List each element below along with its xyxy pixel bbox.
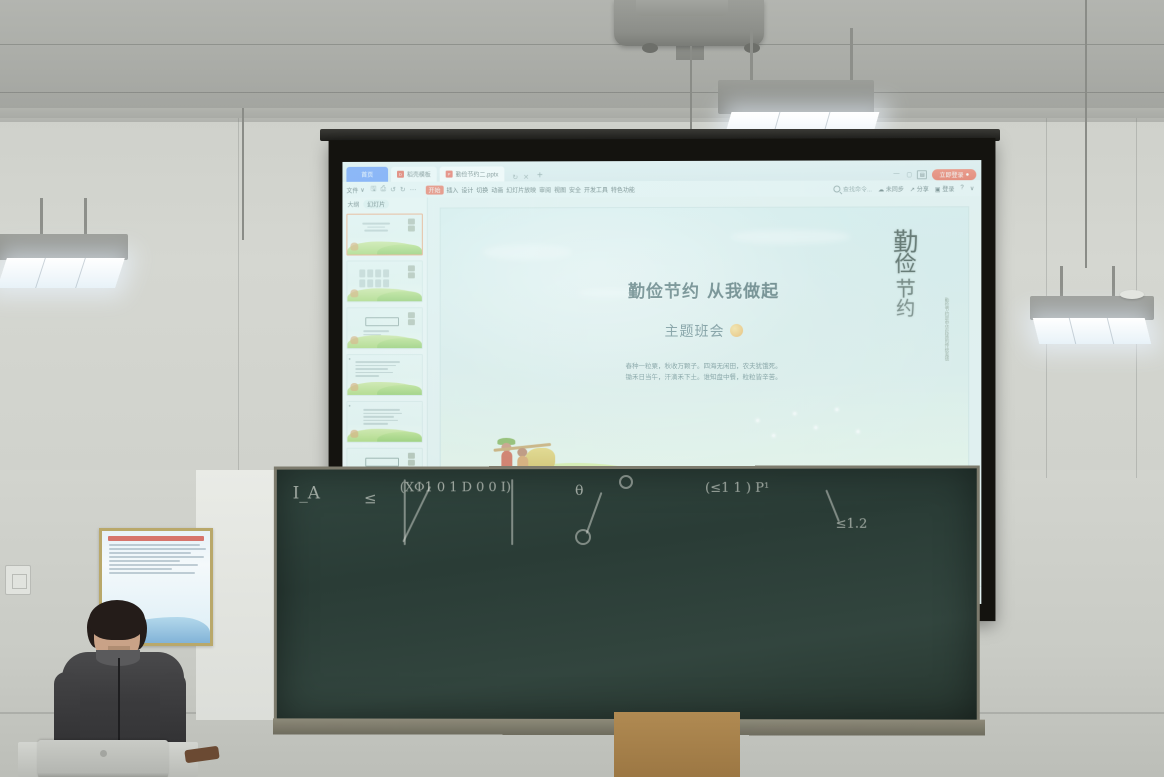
ribbon-tab-start[interactable]: 开始 <box>426 185 444 194</box>
chalk-circle <box>575 529 591 545</box>
thumb-farmer-icon <box>350 243 358 251</box>
laptop <box>38 740 168 777</box>
template-icon: D <box>397 171 404 178</box>
ceiling-seam <box>0 92 1164 93</box>
hanging-wire <box>242 108 244 240</box>
light-panel <box>1033 318 1151 344</box>
ceiling-seam <box>0 44 1164 45</box>
chalk-circle <box>619 475 633 489</box>
ribbon-tab-view[interactable]: 视图 <box>554 185 566 194</box>
search-box[interactable]: 查找命令... <box>834 184 872 193</box>
chevron-down-icon: ∨ <box>360 186 364 193</box>
chalk-stroke <box>825 490 840 522</box>
title-bar: 首页 D 稻壳模板 P 勤俭节约二.pptx ↻ ✕ + <box>342 160 981 182</box>
chalk-note: ≤ <box>364 489 376 507</box>
rice-bowl-icon <box>730 324 743 337</box>
user-icon: ● <box>966 172 970 178</box>
cloud-wisp <box>730 229 850 243</box>
smoke-detector <box>1120 290 1144 299</box>
front-desk <box>614 712 740 777</box>
hanging-wire <box>1085 0 1087 268</box>
more-icon[interactable]: ⋯ <box>410 186 417 194</box>
wall-band <box>0 108 1164 122</box>
thumb-calligraphy-icon <box>407 312 416 325</box>
chalk-stroke <box>404 479 406 545</box>
projector-lens-icon <box>642 43 658 53</box>
share-button[interactable]: ↗ 分享 <box>910 184 929 193</box>
wall-outlet <box>5 565 31 595</box>
tab-outline[interactable]: 大纲 <box>347 200 359 209</box>
light-rod <box>40 198 43 234</box>
calligraphy-char-1: 勤 <box>893 229 918 254</box>
thumb-title-box <box>365 458 399 467</box>
dandelion-seed <box>814 426 817 429</box>
thumb-calligraphy-icon <box>407 219 416 232</box>
pendant-light-far-right <box>1020 270 1150 362</box>
slide-thumbnail-1[interactable] <box>346 214 422 256</box>
menu-bar: 文件 ∨ 🖫 ⎙ ↺ ↻ ⋯ 开始 插入 设计 切换 <box>342 180 981 198</box>
home-tab[interactable]: 首页 <box>346 167 388 182</box>
titlebar-right: — ▢ ▤ 立即登录 ● <box>893 169 981 180</box>
file-menu[interactable]: 文件 ∨ <box>346 185 364 194</box>
poster-title-bar <box>108 536 204 541</box>
ribbon-tab-transition[interactable]: 切换 <box>476 185 488 194</box>
ribbon-tab-slideshow[interactable]: 幻灯片放映 <box>506 185 536 194</box>
light-rod <box>1112 266 1115 296</box>
dandelion-seed <box>836 408 839 411</box>
signin-label: 登录 <box>942 187 954 193</box>
slide-thumbnail-3[interactable] <box>346 307 422 349</box>
grid-view-button[interactable]: ▤ <box>917 170 927 179</box>
window-controls: — ▢ <box>893 171 912 178</box>
ribbon-tab-developer[interactable]: 开发工具 <box>584 185 608 194</box>
thumb-badge: ● <box>348 356 350 361</box>
ribbon-tab-security[interactable]: 安全 <box>569 185 581 194</box>
thumb-calligraphy-icon <box>407 453 416 466</box>
sync-label: 未同步 <box>886 187 904 193</box>
wall-joint <box>238 118 239 478</box>
light-housing <box>0 234 128 260</box>
document-tab-template[interactable]: D 稻壳模板 <box>391 167 437 182</box>
tab-refresh-icon[interactable]: ↻ <box>512 173 518 181</box>
dandelion-seed <box>857 430 860 433</box>
print-icon[interactable]: ⎙ <box>381 186 387 194</box>
slide-thumbnail-4[interactable]: ● <box>346 354 422 396</box>
tab-actions: ↻ ✕ <box>512 173 529 181</box>
calligraphy-side-text: 勤俭节约是中华民族的传统美德 <box>927 298 949 361</box>
light-rod <box>750 28 753 80</box>
ribbon-tab-animation[interactable]: 动画 <box>491 185 503 194</box>
ceiling-vent <box>636 0 728 16</box>
chalk-stroke <box>586 492 603 534</box>
redo-icon[interactable]: ↻ <box>400 186 406 194</box>
pendant-light-left <box>6 200 136 300</box>
chalk-note: θ <box>575 483 583 499</box>
quick-access-toolbar: 🖫 ⎙ ↺ ↻ ⋯ <box>371 184 417 195</box>
login-button[interactable]: 立即登录 ● <box>932 169 976 180</box>
blackboard: I_A ≤ (XΦ1 0 1 D 0 0 I) θ (≤1 1 ) P¹ ≤1.… <box>274 465 980 724</box>
dandelion-seed <box>793 412 796 415</box>
light-panel <box>0 258 125 288</box>
slide-thumbnail-5[interactable]: ● <box>346 401 422 443</box>
document-tab-label: 稻壳模板 <box>407 170 431 179</box>
ribbon-tab-features[interactable]: 特色功能 <box>611 185 635 194</box>
slide-thumbnail-2[interactable] <box>346 260 422 302</box>
file-menu-label: 文件 <box>346 185 358 194</box>
search-placeholder: 查找命令... <box>843 184 872 193</box>
minimize-button[interactable]: — <box>893 171 899 178</box>
classroom-scene: 首页 D 稻壳模板 P 勤俭节约二.pptx ↻ ✕ + <box>0 0 1164 777</box>
light-housing <box>1030 296 1154 320</box>
calligraphy-char-4: 约 <box>896 300 915 319</box>
signin-button[interactable]: ▣ 登录 <box>935 184 955 193</box>
sync-status[interactable]: ☁ 未同步 <box>878 184 904 193</box>
calligraphy-char-3: 节 <box>896 278 916 298</box>
light-housing <box>718 80 874 114</box>
tab-close-icon[interactable]: ✕ <box>523 173 529 181</box>
login-label: 立即登录 <box>939 170 963 179</box>
thumb-farmer-icon <box>350 336 358 344</box>
help-icon[interactable]: ? <box>960 185 963 191</box>
dandelion-seed <box>756 419 759 422</box>
ribbon-tab-review[interactable]: 审阅 <box>539 185 551 194</box>
projector-wire <box>690 46 692 142</box>
cloud-icon: ☁ <box>878 187 884 193</box>
thumb-calligraphy-icon <box>407 265 416 278</box>
person-icon: ▣ <box>935 187 941 193</box>
slide-subtitle: 主题班会 <box>664 321 724 341</box>
menubar-right: 查找命令... ☁ 未同步 ↗ 分享 ▣ 登录 <box>834 184 977 193</box>
pendant-light-right <box>718 28 908 138</box>
light-rod <box>850 28 853 80</box>
thumb-title-box <box>365 317 399 326</box>
ribbon-tabs: 开始 插入 设计 切换 动画 幻灯片放映 审阅 视图 安全 开发工具 特色功能 <box>426 185 635 195</box>
save-icon[interactable]: 🖫 <box>371 184 377 195</box>
share-label: 分享 <box>917 187 929 193</box>
chalk-note: ≤1.2 <box>836 517 868 532</box>
chalk-note: (≤1 1 ) P¹ <box>705 481 769 497</box>
undo-icon[interactable]: ↺ <box>390 186 396 194</box>
thumb-farmer-icon <box>350 430 358 438</box>
tab-slides[interactable]: 幻灯片 <box>363 200 389 209</box>
share-icon: ↗ <box>910 187 915 193</box>
chalk-note: I_A <box>293 483 320 503</box>
thumb-badge: ● <box>348 403 350 408</box>
thumb-farmer-icon <box>350 289 358 297</box>
document-tab-pptx[interactable]: P 勤俭节约二.pptx <box>440 166 505 181</box>
thumbnail-tabs: 大纲 幻灯片 <box>342 198 426 211</box>
maximize-button[interactable]: ▢ <box>906 171 912 178</box>
calligraphy-char-2: 俭 <box>895 254 917 276</box>
document-tab-label: 勤俭节约二.pptx <box>456 169 499 178</box>
new-tab-button[interactable]: + <box>537 170 543 181</box>
light-rod <box>1060 266 1063 296</box>
chalk-stroke <box>511 479 513 545</box>
ribbon-tab-design[interactable]: 设计 <box>461 185 473 194</box>
search-icon <box>834 185 841 192</box>
light-rod <box>84 198 87 234</box>
chalk-note: (XΦ1 0 1 D 0 0 I) <box>400 481 511 495</box>
collapse-ribbon-icon[interactable]: ∨ <box>970 185 974 192</box>
ribbon-tab-insert[interactable]: 插入 <box>446 185 458 194</box>
dandelion-seed <box>772 434 775 437</box>
chalk-stroke <box>402 486 431 542</box>
thumb-farmer-icon <box>350 383 358 391</box>
presenter-hair <box>89 600 145 640</box>
pptx-icon: P <box>446 171 453 178</box>
